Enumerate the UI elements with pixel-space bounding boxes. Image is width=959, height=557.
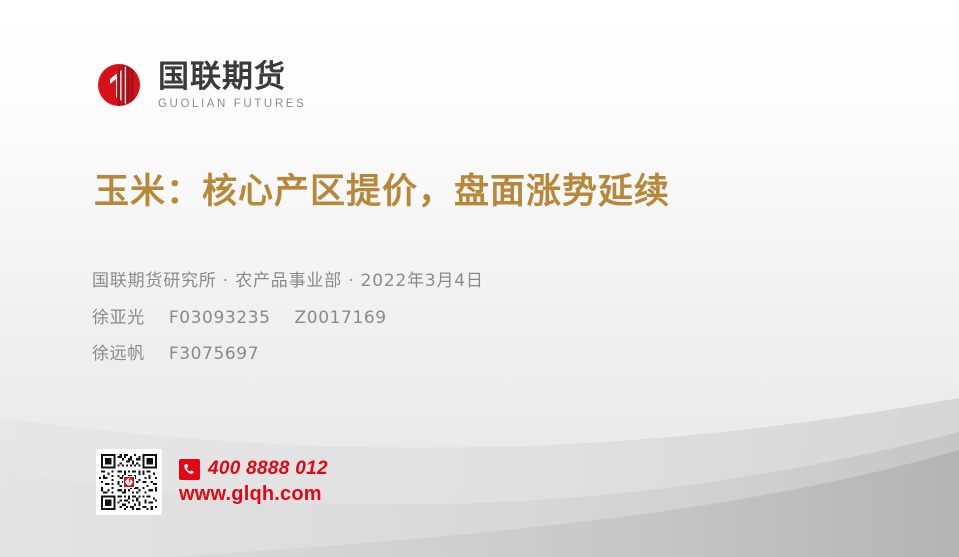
phone-number: 400 8888 012 — [208, 458, 328, 480]
brand-name-cn: 国联期货 — [158, 60, 306, 95]
page-title: 玉米：核心产区提价，盘面涨势延续 — [94, 163, 670, 214]
website-url[interactable]: www.glqh.com — [179, 483, 328, 506]
qr-code[interactable] — [96, 449, 162, 515]
phone-row: 400 8888 012 — [179, 458, 328, 480]
author-line-1: 徐亚光 F03093235 Z0017169 — [92, 300, 484, 337]
contact-details: 400 8888 012 www.glqh.com — [179, 458, 328, 506]
department-line: 国联期货研究所 · 农产品事业部 · 2022年3月4日 — [92, 263, 484, 300]
footer-contact: 400 8888 012 www.glqh.com — [96, 449, 328, 515]
meta-info: 国联期货研究所 · 农产品事业部 · 2022年3月4日 徐亚光 F030932… — [92, 263, 484, 373]
brand-name-en: GUOLIAN FUTURES — [158, 98, 306, 110]
brand-logo: 国联期货 GUOLIAN FUTURES — [96, 57, 306, 113]
presentation-slide: 国联期货 GUOLIAN FUTURES 玉米：核心产区提价，盘面涨势延续 国联… — [0, 0, 959, 557]
qr-code-icon — [99, 452, 159, 512]
author-line-2: 徐远帆 F3075697 — [92, 336, 484, 373]
phone-icon — [179, 459, 200, 480]
brand-wordmark: 国联期货 GUOLIAN FUTURES — [158, 60, 306, 110]
guolian-circle-tower-logo-icon — [96, 57, 148, 113]
